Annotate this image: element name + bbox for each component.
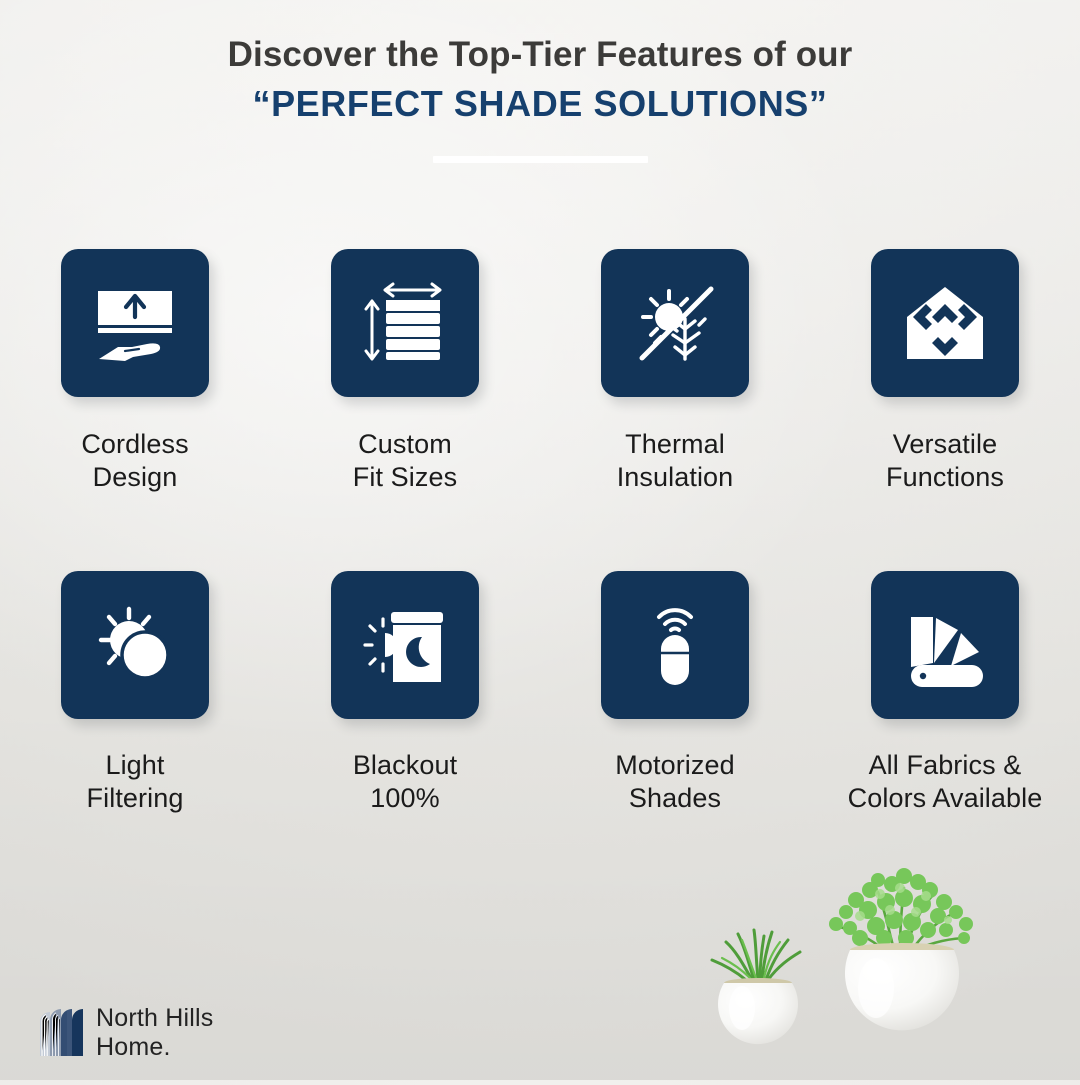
feature-label: Thermal Insulation <box>617 428 734 494</box>
feature-cell-blackout[interactable]: Blackout 100% <box>270 571 540 815</box>
feature-label: Versatile Functions <box>886 428 1004 494</box>
feature-cell-thermal-insulation[interactable]: Thermal Insulation <box>540 249 810 494</box>
feature-row-2: Light Filtering B <box>0 571 1080 815</box>
brand-logo[interactable]: North Hills Home. <box>38 1004 214 1062</box>
brand-name-line2: Home. <box>96 1033 214 1062</box>
feature-label-line2: Colors Available <box>848 782 1043 815</box>
feature-label-line1: Cordless <box>81 428 188 461</box>
feature-tile[interactable] <box>331 249 479 397</box>
cordless-shade-hand-icon <box>85 273 185 373</box>
feature-label-line2: Filtering <box>87 782 184 815</box>
feature-label-line1: Motorized <box>615 749 734 782</box>
feature-tile[interactable] <box>871 571 1019 719</box>
feature-label: Light Filtering <box>87 749 184 815</box>
feature-tile[interactable] <box>871 249 1019 397</box>
feature-cell-versatile-functions[interactable]: Versatile Functions <box>810 249 1080 494</box>
sun-filter-circle-icon <box>85 595 185 695</box>
header: Discover the Top-Tier Features of our “P… <box>0 34 1080 163</box>
feature-label-line2: Insulation <box>617 461 734 494</box>
brand-name-line1: North Hills <box>96 1004 214 1033</box>
feature-label-line2: Shades <box>615 782 734 815</box>
header-divider <box>433 156 648 163</box>
feature-cell-all-fabrics-colors[interactable]: All Fabrics & Colors Available <box>810 571 1080 815</box>
feature-label-line1: Thermal <box>617 428 734 461</box>
feature-label-line1: Light <box>87 749 184 782</box>
feature-tile[interactable] <box>601 249 749 397</box>
feature-grid: Cordless Design <box>0 249 1080 815</box>
feature-label: Custom Fit Sizes <box>353 428 457 494</box>
sun-snowflake-icon <box>625 273 725 373</box>
feature-row-1: Cordless Design <box>0 249 1080 494</box>
feature-label-line1: All Fabrics & <box>848 749 1043 782</box>
feature-label-line1: Blackout <box>353 749 457 782</box>
feature-label-line1: Versatile <box>886 428 1004 461</box>
feature-tile[interactable] <box>331 571 479 719</box>
brand-logo-text: North Hills Home. <box>96 1004 214 1062</box>
feature-label: Blackout 100% <box>353 749 457 815</box>
feature-tile[interactable] <box>61 571 209 719</box>
headline-primary: Discover the Top-Tier Features of our <box>0 34 1080 75</box>
feature-cell-cordless-design[interactable]: Cordless Design <box>0 249 270 494</box>
feature-label-line2: Functions <box>886 461 1004 494</box>
house-diamond-icon <box>895 273 995 373</box>
measure-arrows-blind-icon <box>355 273 455 373</box>
fabric-swatch-fan-icon <box>895 595 995 695</box>
feature-label: All Fabrics & Colors Available <box>848 749 1043 815</box>
remote-signal-icon <box>625 595 725 695</box>
feature-label-line1: Custom <box>353 428 457 461</box>
feature-tile[interactable] <box>601 571 749 719</box>
feature-label-line2: Design <box>81 461 188 494</box>
feature-cell-motorized-shades[interactable]: Motorized Shades <box>540 571 810 815</box>
potted-plants-photo <box>680 850 1080 1080</box>
feature-label-line2: 100% <box>353 782 457 815</box>
arch-shade-logo-icon <box>38 1006 84 1061</box>
feature-cell-custom-fit-sizes[interactable]: Custom Fit Sizes <box>270 249 540 494</box>
feature-label-line2: Fit Sizes <box>353 461 457 494</box>
feature-tile[interactable] <box>61 249 209 397</box>
feature-label: Motorized Shades <box>615 749 734 815</box>
blackout-moon-shade-icon <box>355 595 455 695</box>
feature-label: Cordless Design <box>81 428 188 494</box>
feature-cell-light-filtering[interactable]: Light Filtering <box>0 571 270 815</box>
headline-highlight: “PERFECT SHADE SOLUTIONS” <box>0 82 1080 125</box>
